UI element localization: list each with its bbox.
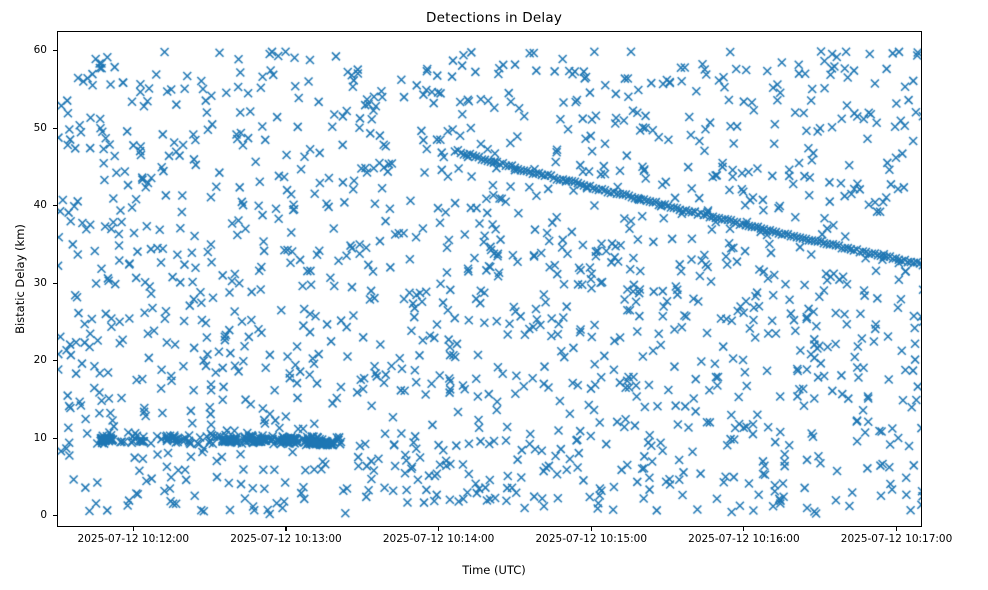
x-tick-label: 2025-07-12 10:16:00 [688,533,800,545]
x-tick-label: 2025-07-12 10:15:00 [535,533,647,545]
y-tick-label: 50 [20,122,47,134]
y-tick-label: 10 [20,432,47,444]
y-tick-label: 0 [20,509,47,521]
chart-title: Detections in Delay [0,10,988,26]
y-tick-label: 20 [20,354,47,366]
plot-area [57,31,922,527]
x-tick-label: 2025-07-12 10:13:00 [230,533,342,545]
x-tick-label: 2025-07-12 10:17:00 [841,533,953,545]
scatter-plot-canvas [58,32,922,527]
x-axis-label: Time (UTC) [0,563,988,577]
x-tick-label: 2025-07-12 10:12:00 [78,533,190,545]
x-tick-mark [896,527,897,531]
x-tick-mark [438,527,439,531]
x-tick-label: 2025-07-12 10:14:00 [383,533,495,545]
x-tick-mark [591,527,592,531]
figure-canvas: Detections in Delay 0102030405060 2025-0… [0,0,988,590]
y-tick-label: 40 [20,199,47,211]
y-axis-label: Bistatic Delay (km) [13,224,27,334]
x-tick-mark [285,527,286,531]
y-tick-label: 60 [20,44,47,56]
x-tick-mark [133,527,134,531]
x-tick-mark [743,527,744,531]
